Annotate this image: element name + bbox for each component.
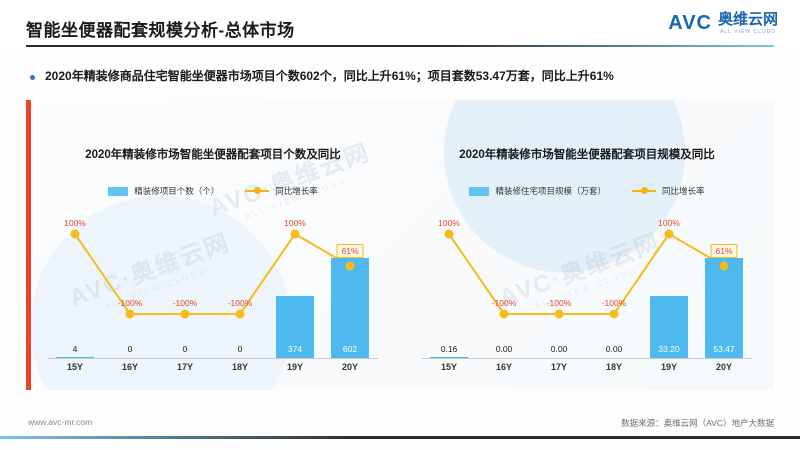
charts-panel: AVC·奥维云网ALL VIEW CLOUD AVC·奥维云网ALL VIEW … bbox=[26, 100, 774, 390]
chart-plot-area: 0.16 0.00 0.00 0.00 33.20 53.47 100% -10… bbox=[422, 218, 752, 358]
bar-value-18y: 0 bbox=[238, 344, 243, 354]
line-point-18y bbox=[611, 311, 618, 318]
bar-20y bbox=[331, 258, 369, 358]
bullet-row: 2020年精装修商品住宅智能坐便器市场项目个数602个，同比上升61%；项目套数… bbox=[30, 68, 770, 85]
logo-cn-block: 奥维云网 ALL VIEW CLOUD bbox=[718, 12, 778, 35]
x-label-15y: 15Y bbox=[67, 362, 83, 372]
slide-header: 智能坐便器配套规模分析-总体市场 AVC 奥维云网 ALL VIEW CLOUD bbox=[0, 0, 800, 55]
page-title: 智能坐便器配套规模分析-总体市场 bbox=[26, 16, 295, 41]
logo-cn-text: 奥维云网 bbox=[718, 12, 778, 27]
x-label-19y: 19Y bbox=[661, 362, 677, 372]
legend-line-swatch bbox=[245, 190, 269, 192]
line-label-15y: 100% bbox=[438, 218, 460, 228]
bar-20y bbox=[705, 258, 743, 358]
bar-value-20y: 602 bbox=[343, 344, 357, 354]
legend-line-label: 同比增长率 bbox=[662, 185, 705, 197]
bar-value-17y: 0.00 bbox=[551, 344, 568, 354]
x-axis-labels: 15Y 16Y 17Y 18Y 19Y 20Y bbox=[48, 362, 378, 378]
line-point-16y bbox=[127, 311, 134, 318]
x-label-19y: 19Y bbox=[287, 362, 303, 372]
chart-project-scale: 2020年精装修市场智能坐便器配套项目规模及同比 精装修住宅项目规模（万套） 同… bbox=[400, 100, 774, 390]
legend-line-swatch bbox=[632, 190, 656, 192]
bullet-text: 2020年精装修商品住宅智能坐便器市场项目个数602个，同比上升61%；项目套数… bbox=[45, 68, 614, 85]
line-label-18y: -100% bbox=[602, 298, 627, 308]
x-axis-labels: 15Y 16Y 17Y 18Y 19Y 20Y bbox=[422, 362, 752, 378]
chart-plot-area: 4 0 0 0 374 602 100% -100% -100% -100% 1… bbox=[48, 218, 378, 358]
chart-legend: 精装修项目个数（个） 同比增长率 bbox=[26, 185, 400, 197]
legend-bar-label: 精装修项目个数（个） bbox=[134, 185, 219, 197]
x-axis-line bbox=[48, 358, 378, 359]
bar-value-20y: 53.47 bbox=[713, 344, 734, 354]
bullet-dot-icon bbox=[30, 75, 35, 80]
x-axis-line bbox=[422, 358, 752, 359]
growth-line bbox=[422, 218, 752, 358]
legend-line-label: 同比增长率 bbox=[275, 185, 318, 197]
line-label-20y: 61% bbox=[336, 244, 363, 258]
line-point-15y bbox=[446, 231, 453, 238]
line-point-17y bbox=[182, 311, 189, 318]
line-point-20y bbox=[721, 263, 728, 270]
footer-source: 数据来源：奥维云网（AVC）地产大数据 bbox=[621, 417, 774, 429]
bar-value-17y: 0 bbox=[183, 344, 188, 354]
bar-value-18y: 0.00 bbox=[606, 344, 623, 354]
bar-value-15y: 0.16 bbox=[441, 344, 458, 354]
x-label-18y: 18Y bbox=[232, 362, 248, 372]
bar-value-19y: 33.20 bbox=[658, 344, 679, 354]
line-label-20y: 61% bbox=[710, 244, 737, 258]
line-point-15y bbox=[72, 231, 79, 238]
chart-title: 2020年精装修市场智能坐便器配套项目个数及同比 bbox=[26, 146, 400, 162]
x-label-17y: 17Y bbox=[177, 362, 193, 372]
x-label-20y: 20Y bbox=[342, 362, 358, 372]
avc-logo: AVC 奥维云网 ALL VIEW CLOUD bbox=[668, 12, 778, 35]
line-label-17y: -100% bbox=[547, 298, 572, 308]
chart-title: 2020年精装修市场智能坐便器配套项目规模及同比 bbox=[400, 146, 774, 162]
legend-item-line: 同比增长率 bbox=[632, 185, 705, 197]
x-label-16y: 16Y bbox=[122, 362, 138, 372]
growth-line bbox=[48, 218, 378, 358]
footer-url: www.avc-mr.com bbox=[28, 417, 92, 427]
line-point-20y bbox=[347, 263, 354, 270]
legend-item-bar: 精装修项目个数（个） bbox=[108, 185, 219, 197]
bar-value-16y: 0 bbox=[128, 344, 133, 354]
x-label-17y: 17Y bbox=[551, 362, 567, 372]
line-point-18y bbox=[237, 311, 244, 318]
legend-bar-label: 精装修住宅项目规模（万套） bbox=[495, 185, 606, 197]
legend-item-line: 同比增长率 bbox=[245, 185, 318, 197]
bar-value-19y: 374 bbox=[288, 344, 302, 354]
line-label-15y: 100% bbox=[64, 218, 86, 228]
chart-project-count: 2020年精装修市场智能坐便器配套项目个数及同比 精装修项目个数（个） 同比增长… bbox=[26, 100, 400, 390]
line-point-17y bbox=[556, 311, 563, 318]
line-label-19y: 100% bbox=[658, 218, 680, 228]
x-label-20y: 20Y bbox=[716, 362, 732, 372]
legend-bar-swatch bbox=[469, 187, 489, 196]
bar-value-16y: 0.00 bbox=[496, 344, 513, 354]
line-point-19y bbox=[292, 231, 299, 238]
line-label-19y: 100% bbox=[284, 218, 306, 228]
line-label-16y: -100% bbox=[492, 298, 517, 308]
header-divider bbox=[26, 45, 774, 47]
logo-sub-text: ALL VIEW CLOUD bbox=[720, 29, 776, 35]
line-label-18y: -100% bbox=[228, 298, 253, 308]
slide-page: 智能坐便器配套规模分析-总体市场 AVC 奥维云网 ALL VIEW CLOUD… bbox=[0, 0, 800, 450]
line-label-16y: -100% bbox=[118, 298, 143, 308]
chart-legend: 精装修住宅项目规模（万套） 同比增长率 bbox=[400, 185, 774, 197]
line-point-19y bbox=[666, 231, 673, 238]
footer-divider bbox=[0, 436, 800, 439]
logo-avc-text: AVC bbox=[668, 12, 712, 35]
line-label-17y: -100% bbox=[173, 298, 198, 308]
x-label-16y: 16Y bbox=[496, 362, 512, 372]
bar-value-15y: 4 bbox=[73, 344, 78, 354]
legend-bar-swatch bbox=[108, 187, 128, 196]
x-label-18y: 18Y bbox=[606, 362, 622, 372]
line-point-16y bbox=[501, 311, 508, 318]
x-label-15y: 15Y bbox=[441, 362, 457, 372]
legend-item-bar: 精装修住宅项目规模（万套） bbox=[469, 185, 606, 197]
